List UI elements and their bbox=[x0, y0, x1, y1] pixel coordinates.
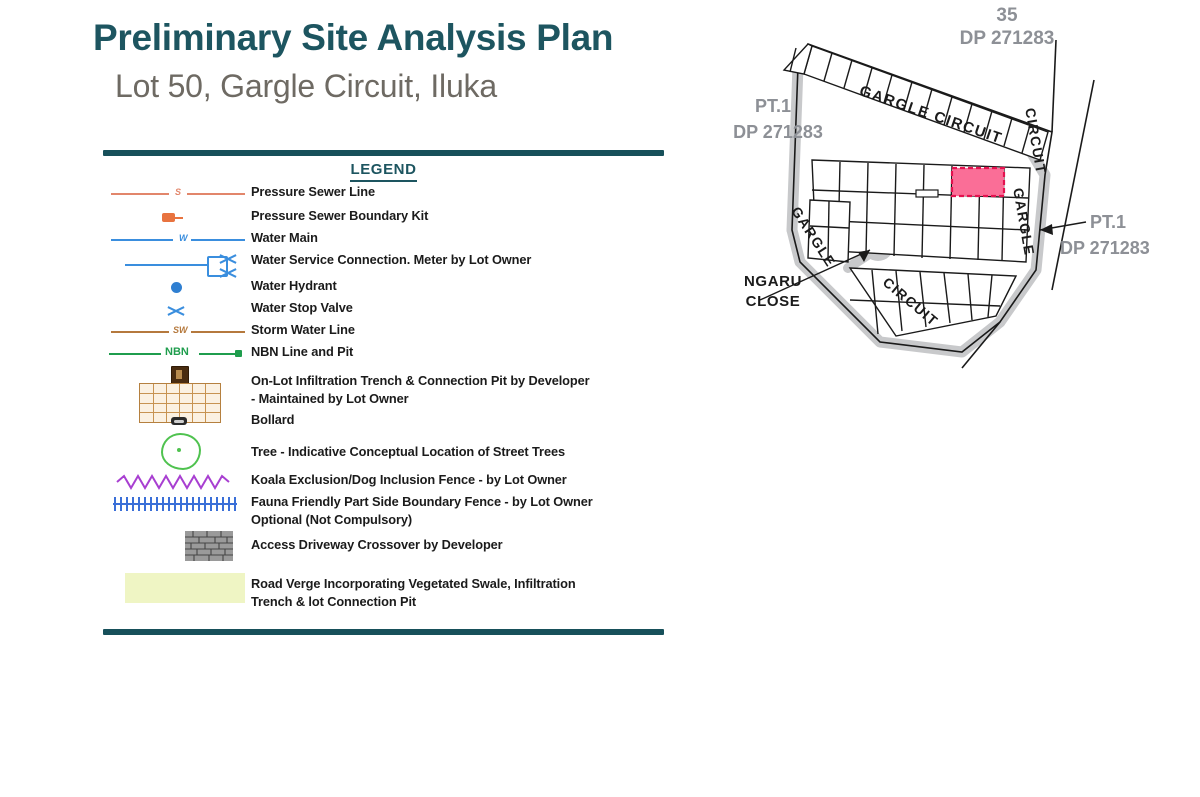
legend-item-bollard: Bollard bbox=[103, 411, 683, 433]
street-tree-icon bbox=[103, 431, 248, 471]
divider-top bbox=[103, 150, 664, 156]
legend-heading-text: LEGEND bbox=[350, 161, 416, 182]
fauna-friendly-fence-icon bbox=[103, 493, 248, 527]
legend-item-water-stop-valve: Water Stop Valve bbox=[103, 299, 683, 321]
legend-item-street-tree: Tree - Indicative Conceptual Location of… bbox=[103, 431, 683, 471]
legend-heading: LEGEND bbox=[103, 161, 664, 178]
legend-item-access-driveway-crossover: Access Driveway Crossover by Developer bbox=[103, 527, 683, 565]
legend-item-water-hydrant: Water Hydrant bbox=[103, 277, 683, 299]
legend-label: Koala Exclusion/Dog Inclusion Fence - by… bbox=[251, 471, 567, 489]
legend-label: Water Hydrant bbox=[251, 277, 337, 295]
map-panel: 35 DP 271283 PT.1 DP 271283 PT.1 DP 2712… bbox=[700, 0, 1200, 797]
parcel-label-west-lot: PT.1 bbox=[718, 96, 828, 117]
bollard-icon bbox=[103, 411, 248, 433]
storm-water-code: SW bbox=[173, 326, 188, 335]
site-plan-map bbox=[700, 0, 1200, 420]
legend-item-pressure-sewer-line: S Pressure Sewer Line bbox=[103, 183, 683, 205]
access-driveway-crossover-icon bbox=[103, 527, 248, 565]
legend-label: Tree - Indicative Conceptual Location of… bbox=[251, 443, 565, 461]
pressure-sewer-code: S bbox=[175, 188, 181, 197]
parcel-label-west-plan: DP 271283 bbox=[703, 122, 853, 143]
water-hydrant-icon bbox=[103, 277, 248, 299]
legend-item-fauna-friendly-fence: Fauna Friendly Part Side Boundary Fence … bbox=[103, 493, 683, 527]
water-stop-valve-icon bbox=[103, 299, 248, 321]
legend-item-storm-water-line: SW Storm Water Line bbox=[103, 321, 683, 343]
legend-item-water-service-connection: Water Service Connection. Meter by Lot O… bbox=[103, 251, 683, 277]
driveway-crossover-marker bbox=[916, 190, 938, 197]
legend-label: Pressure Sewer Boundary Kit bbox=[251, 207, 428, 225]
road-verge-swale-icon bbox=[103, 569, 248, 611]
page-title: Preliminary Site Analysis Plan bbox=[93, 18, 693, 58]
hatched-fence-glyph bbox=[103, 493, 248, 515]
legend-item-road-verge-swale: Road Verge Incorporating Vegetated Swale… bbox=[103, 569, 683, 611]
legend-label: On-Lot Infiltration Trench & Connection … bbox=[251, 372, 590, 408]
legend-label: Pressure Sewer Line bbox=[251, 183, 375, 201]
legend-label: Water Stop Valve bbox=[251, 299, 353, 317]
legend-item-nbn-line-and-pit: NBN NBN Line and Pit bbox=[103, 343, 683, 365]
parcel-label-east-lot: PT.1 bbox=[1090, 212, 1190, 233]
legend-item-pressure-sewer-boundary-kit: Pressure Sewer Boundary Kit bbox=[103, 207, 683, 229]
koala-exclusion-fence-icon bbox=[103, 471, 248, 493]
legend-label: NBN Line and Pit bbox=[251, 343, 353, 361]
water-main-icon: W bbox=[103, 229, 248, 251]
legend-label: Road Verge Incorporating Vegetated Swale… bbox=[251, 575, 576, 611]
subject-lot-highlight bbox=[952, 168, 1004, 196]
title-block: Preliminary Site Analysis Plan Lot 50, G… bbox=[93, 18, 693, 105]
parcel-label-north-lot: 35 bbox=[947, 4, 1067, 28]
street-label-ngaru-close: NGARU CLOSE bbox=[718, 272, 828, 311]
divider-bottom bbox=[103, 629, 664, 635]
legend-item-koala-exclusion-fence: Koala Exclusion/Dog Inclusion Fence - by… bbox=[103, 471, 683, 493]
stone-texture-glyph bbox=[185, 531, 233, 561]
nbn-code: NBN bbox=[165, 347, 189, 358]
legend-label: Water Service Connection. Meter by Lot O… bbox=[251, 251, 531, 269]
legend-label: Storm Water Line bbox=[251, 321, 355, 339]
legend-label: Fauna Friendly Part Side Boundary Fence … bbox=[251, 493, 593, 529]
legend-label: Access Driveway Crossover by Developer bbox=[251, 536, 503, 554]
pressure-sewer-line-icon: S bbox=[103, 183, 248, 205]
storm-water-line-icon: SW bbox=[103, 321, 248, 343]
legend-label: Water Main bbox=[251, 229, 318, 247]
parcel-label-east-plan: DP 271283 bbox=[1060, 238, 1200, 259]
zigzag-fence-glyph bbox=[103, 471, 248, 493]
water-service-connection-icon bbox=[103, 251, 248, 277]
legend-label: Bollard bbox=[251, 411, 294, 429]
water-main-code: W bbox=[179, 234, 188, 243]
nbn-line-and-pit-icon: NBN bbox=[103, 343, 248, 365]
left-panel: Preliminary Site Analysis Plan Lot 50, G… bbox=[0, 0, 700, 797]
legend-item-water-main: W Water Main bbox=[103, 229, 683, 251]
pressure-sewer-boundary-kit-icon bbox=[103, 207, 248, 229]
page-subtitle: Lot 50, Gargle Circuit, Iluka bbox=[115, 68, 693, 105]
parcel-label-north-plan: DP 271283 bbox=[907, 28, 1107, 50]
